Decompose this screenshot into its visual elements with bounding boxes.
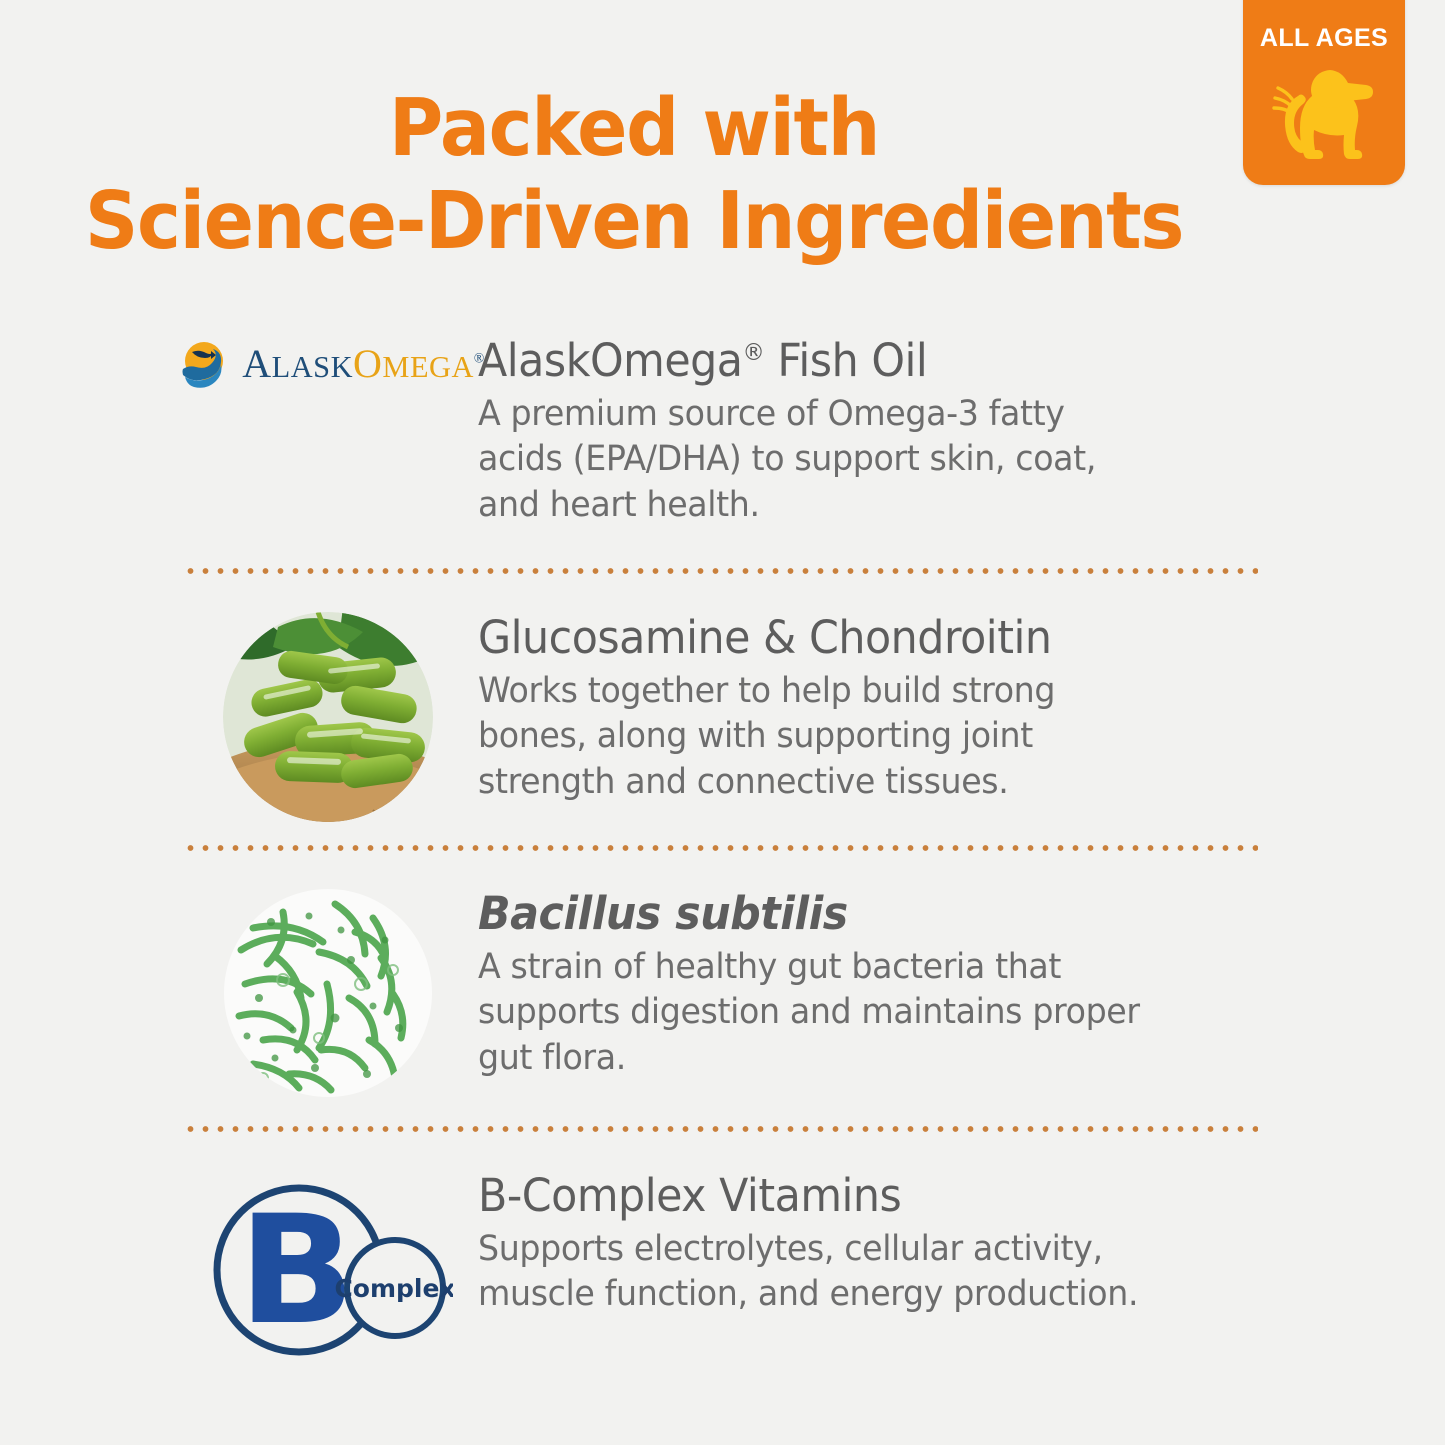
ingredient-title-bacillus: Bacillus subtilis xyxy=(478,890,1229,939)
alaskomega-logo-icon: ALASKOMEGA® xyxy=(178,335,478,393)
ingredient-title-suffix: Fish Oil xyxy=(764,334,927,387)
ingredient-desc-fish-oil: A premium source of Omega-3 fatty acids … xyxy=(478,392,1143,529)
all-ages-badge: ALL AGES xyxy=(1243,0,1405,185)
headline-line-1: Packed with xyxy=(389,82,879,174)
b-complex-emblem: B Complex xyxy=(203,1170,453,1370)
ingredient-title-text: AlaskOmega xyxy=(478,334,743,387)
page-title: Packed with Science-Driven Ingredients xyxy=(38,82,1230,268)
ingredient-desc-b-complex: Supports electrolytes, cellular activity… xyxy=(478,1227,1143,1318)
headline-line-2: Science-Driven Ingredients xyxy=(38,175,1230,268)
ingredient-row-bacillus: Bacillus subtilis A strain of healthy gu… xyxy=(178,888,1268,1098)
divider-2 xyxy=(183,845,1258,851)
infographic-page: ALL AGES Packed with Science-Driven Ingr… xyxy=(0,0,1445,1445)
bacteria-microscopy-photo-icon xyxy=(178,888,478,1098)
alaskomega-emblem-icon xyxy=(175,335,233,393)
svg-text:B: B xyxy=(239,1182,356,1357)
divider-3 xyxy=(183,1126,1258,1132)
green-capsules-photo-icon xyxy=(178,612,478,822)
alaskomega-wordmark: ALASKOMEGA® xyxy=(242,344,484,384)
ingredient-row-glucosamine: Glucosamine & Chondroitin Works together… xyxy=(178,612,1268,822)
capsules-illustration xyxy=(223,612,433,822)
b-complex-bubble-label: Complex xyxy=(334,1274,453,1303)
ingredient-desc-glucosamine: Works together to help build strong bone… xyxy=(478,669,1143,806)
ingredient-row-b-complex: B Complex B-Complex Vitamins Supports el… xyxy=(178,1170,1268,1370)
divider-1 xyxy=(183,568,1258,574)
bacteria-illustration xyxy=(223,888,433,1098)
ingredient-title-fish-oil: AlaskOmega® Fish Oil xyxy=(478,337,1229,386)
ingredient-row-fish-oil: ALASKOMEGA® AlaskOmega® Fish Oil A premi… xyxy=(178,335,1268,528)
ingredient-desc-bacillus: A strain of healthy gut bacteria that su… xyxy=(478,945,1143,1082)
ingredient-title-b-complex: B-Complex Vitamins xyxy=(478,1172,1229,1221)
sitting-dog-icon xyxy=(1268,58,1380,162)
registered-mark: ® xyxy=(743,338,765,366)
all-ages-label: ALL AGES xyxy=(1243,26,1405,51)
ingredient-title-glucosamine: Glucosamine & Chondroitin xyxy=(478,614,1229,663)
b-complex-logo-icon: B Complex xyxy=(178,1170,478,1370)
